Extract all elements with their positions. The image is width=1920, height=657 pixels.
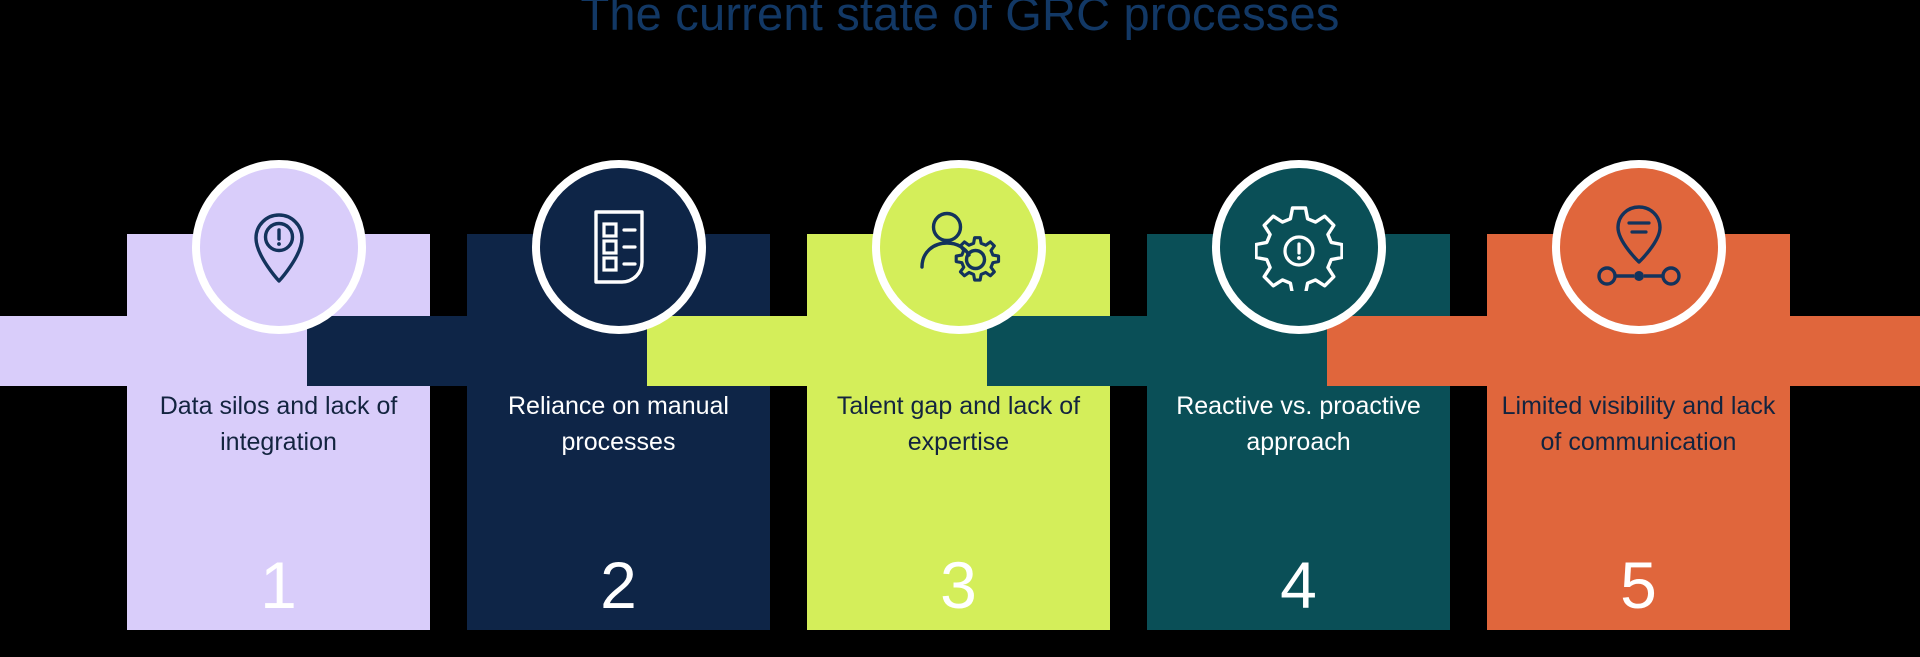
card-2-icon-badge[interactable] xyxy=(540,168,698,326)
card-3-number: 3 xyxy=(807,552,1110,618)
card-2-arm-left xyxy=(307,316,467,386)
card-1-caption: Data silos and lack of integration xyxy=(127,388,430,460)
card-5-caption: Limited visibility and lack of communica… xyxy=(1487,388,1790,460)
gear-alert-icon xyxy=(1255,203,1343,291)
checklist-document-icon xyxy=(579,204,659,290)
card-3-caption: Talent gap and lack of expertise xyxy=(807,388,1110,460)
card-3-icon-badge[interactable] xyxy=(880,168,1038,326)
card-3-arm-left xyxy=(647,316,807,386)
card-5-icon-badge[interactable] xyxy=(1560,168,1718,326)
card-5-number: 5 xyxy=(1487,552,1790,618)
card-5-arm-left xyxy=(1327,316,1487,386)
card-2-caption: Reliance on manual processes xyxy=(467,388,770,460)
card-5[interactable]: Limited visibility and lack of communica… xyxy=(1487,0,1790,657)
card-4-arm-left xyxy=(987,316,1147,386)
infographic-canvas: The current state of GRC processes Data … xyxy=(0,0,1920,657)
pin-network-icon xyxy=(1595,204,1683,290)
card-4-icon-badge[interactable] xyxy=(1220,168,1378,326)
card-1-number: 1 xyxy=(127,552,430,618)
card-1-icon-badge[interactable] xyxy=(200,168,358,326)
person-gear-icon xyxy=(913,204,1005,290)
card-2-number: 2 xyxy=(467,552,770,618)
card-5-arm-right xyxy=(1790,316,1920,386)
card-4-number: 4 xyxy=(1147,552,1450,618)
location-pin-alert-icon xyxy=(236,204,322,290)
card-1-arm-left xyxy=(0,316,127,386)
card-4-caption: Reactive vs. proactive approach xyxy=(1147,388,1450,460)
